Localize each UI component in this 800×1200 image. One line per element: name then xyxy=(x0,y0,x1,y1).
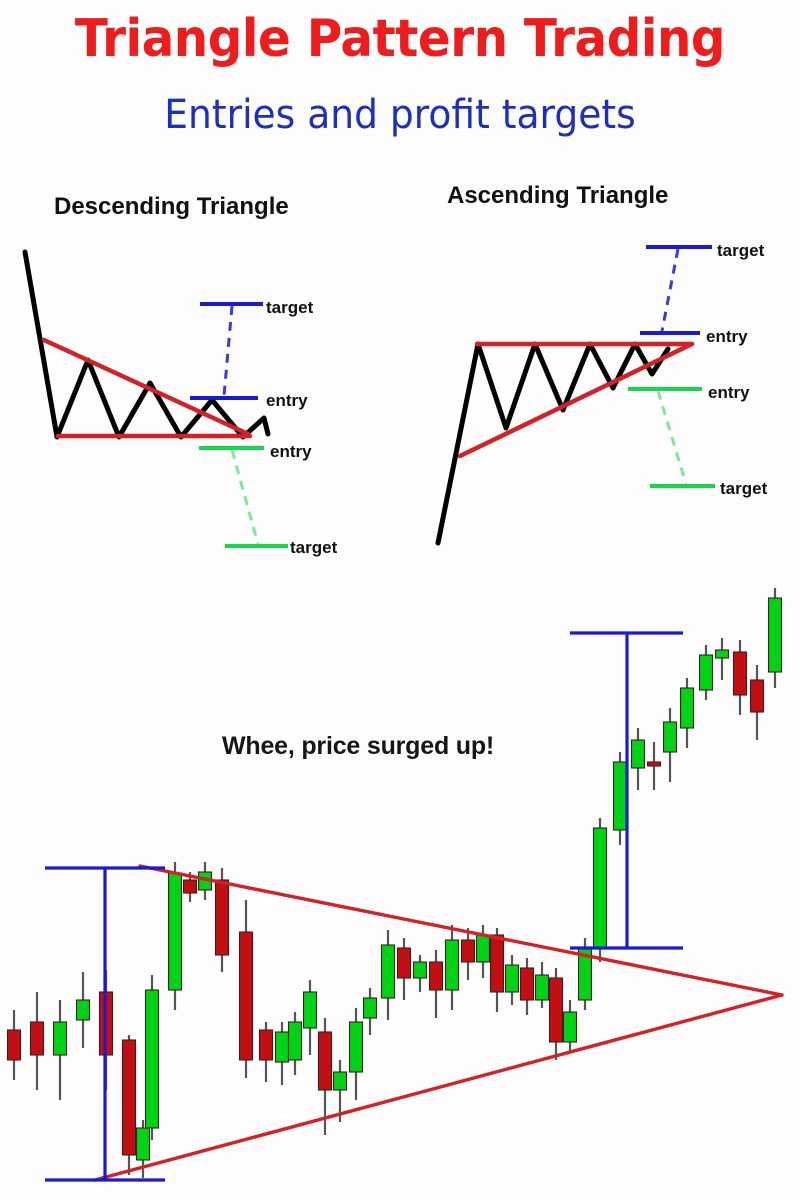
trendline-lower-support xyxy=(95,995,782,1180)
candle xyxy=(398,938,411,1000)
candle xyxy=(594,818,607,962)
candle xyxy=(382,930,395,1020)
candle xyxy=(169,862,182,1010)
candle xyxy=(681,678,694,748)
candle xyxy=(700,645,713,700)
candle xyxy=(751,665,764,740)
ascending-downside-target-label: target xyxy=(720,479,768,498)
candle xyxy=(289,1012,302,1075)
trendline-group xyxy=(95,866,782,1180)
candle xyxy=(123,1035,136,1175)
candle xyxy=(446,925,459,1010)
descending-downside-measure-line xyxy=(232,450,258,544)
candle-body xyxy=(276,1032,289,1062)
candle-body xyxy=(491,935,504,992)
candle-body xyxy=(594,828,607,948)
candle xyxy=(536,962,549,1008)
candle-body xyxy=(536,975,549,1000)
candle-body xyxy=(334,1072,347,1090)
candle xyxy=(769,588,782,688)
candle-body xyxy=(54,1022,67,1055)
candle xyxy=(734,640,747,715)
candle xyxy=(550,968,563,1060)
candle-body xyxy=(350,1022,363,1072)
descending-downside-entry-label: entry xyxy=(270,442,312,461)
candle-body xyxy=(430,962,443,990)
candle-body xyxy=(169,873,182,990)
infographic-page: Triangle Pattern Trading Entries and pro… xyxy=(0,0,800,1200)
descending-triangle-diagram: target entry entry target xyxy=(25,252,338,557)
candle-body xyxy=(700,655,713,690)
candle-body xyxy=(734,652,747,695)
candle xyxy=(77,972,90,1048)
candle-body xyxy=(77,1000,90,1020)
candle-body xyxy=(319,1032,332,1090)
bracket-projected-target-bracket xyxy=(570,633,683,948)
candle-body xyxy=(716,650,729,658)
candle-body xyxy=(446,940,459,990)
candle xyxy=(414,955,427,992)
descending-price-action xyxy=(25,252,268,437)
candle xyxy=(260,1022,273,1082)
candle-body xyxy=(632,740,645,768)
ascending-triangle-diagram: target entry entry target xyxy=(438,241,768,543)
candle-body xyxy=(506,965,519,992)
descending-downside-target-label: target xyxy=(290,538,338,557)
candle xyxy=(240,900,253,1078)
candle xyxy=(648,742,661,790)
candle-body xyxy=(216,880,229,955)
candle-body xyxy=(31,1022,44,1055)
candle-body xyxy=(462,940,475,962)
ascending-downside-entry-label: entry xyxy=(708,383,750,402)
candle xyxy=(146,975,159,1140)
candle-body xyxy=(364,998,377,1018)
candle xyxy=(8,1010,21,1080)
candle-body xyxy=(398,948,411,978)
candle-body xyxy=(8,1030,21,1060)
descending-upside-measure-line xyxy=(224,306,232,396)
candle xyxy=(304,980,317,1055)
candle-body xyxy=(382,945,395,998)
candle-body xyxy=(240,932,253,1060)
candle xyxy=(564,1000,577,1052)
ascending-upside-entry-label: entry xyxy=(706,327,748,346)
candle-body xyxy=(289,1022,302,1060)
candle-body xyxy=(648,762,661,766)
candle-body xyxy=(550,978,563,1042)
candle-body xyxy=(123,1040,136,1155)
candle xyxy=(506,955,519,1005)
candle-body xyxy=(521,968,534,1000)
candle xyxy=(491,928,504,1012)
candle xyxy=(716,638,729,680)
measured-move-group xyxy=(45,633,683,1180)
trendline-upper-resistance xyxy=(140,866,782,995)
ascending-upside-target-label: target xyxy=(717,241,765,260)
candle xyxy=(31,992,44,1090)
candle-body xyxy=(564,1012,577,1042)
candle-body xyxy=(260,1030,273,1060)
candle xyxy=(54,1000,67,1100)
candle-body xyxy=(184,880,197,893)
ascending-downside-measure-line xyxy=(658,391,686,484)
candle-body xyxy=(664,722,677,752)
candle-body xyxy=(304,992,317,1028)
candle xyxy=(521,958,534,1015)
candle-body xyxy=(146,990,159,1128)
candle xyxy=(364,988,377,1035)
diagram-canvas: target entry entry target target entry e… xyxy=(0,0,800,1200)
candle-body xyxy=(477,935,490,962)
candle-body xyxy=(614,762,627,830)
candle-body xyxy=(414,962,427,978)
candle-body xyxy=(137,1128,150,1160)
candlestick-chart xyxy=(8,588,783,1180)
candle xyxy=(350,1008,363,1100)
candle-body xyxy=(769,598,782,672)
descending-upside-entry-label: entry xyxy=(266,391,308,410)
candle xyxy=(614,752,627,845)
candle xyxy=(664,708,677,782)
candle-body xyxy=(681,688,694,728)
candle-body xyxy=(751,680,764,712)
candle xyxy=(430,950,443,1018)
descending-upside-target-label: target xyxy=(266,298,314,317)
candle xyxy=(276,1022,289,1085)
candle xyxy=(462,928,475,980)
candle-series xyxy=(8,588,782,1178)
candle xyxy=(632,728,645,790)
ascending-upside-measure-line xyxy=(662,249,678,331)
